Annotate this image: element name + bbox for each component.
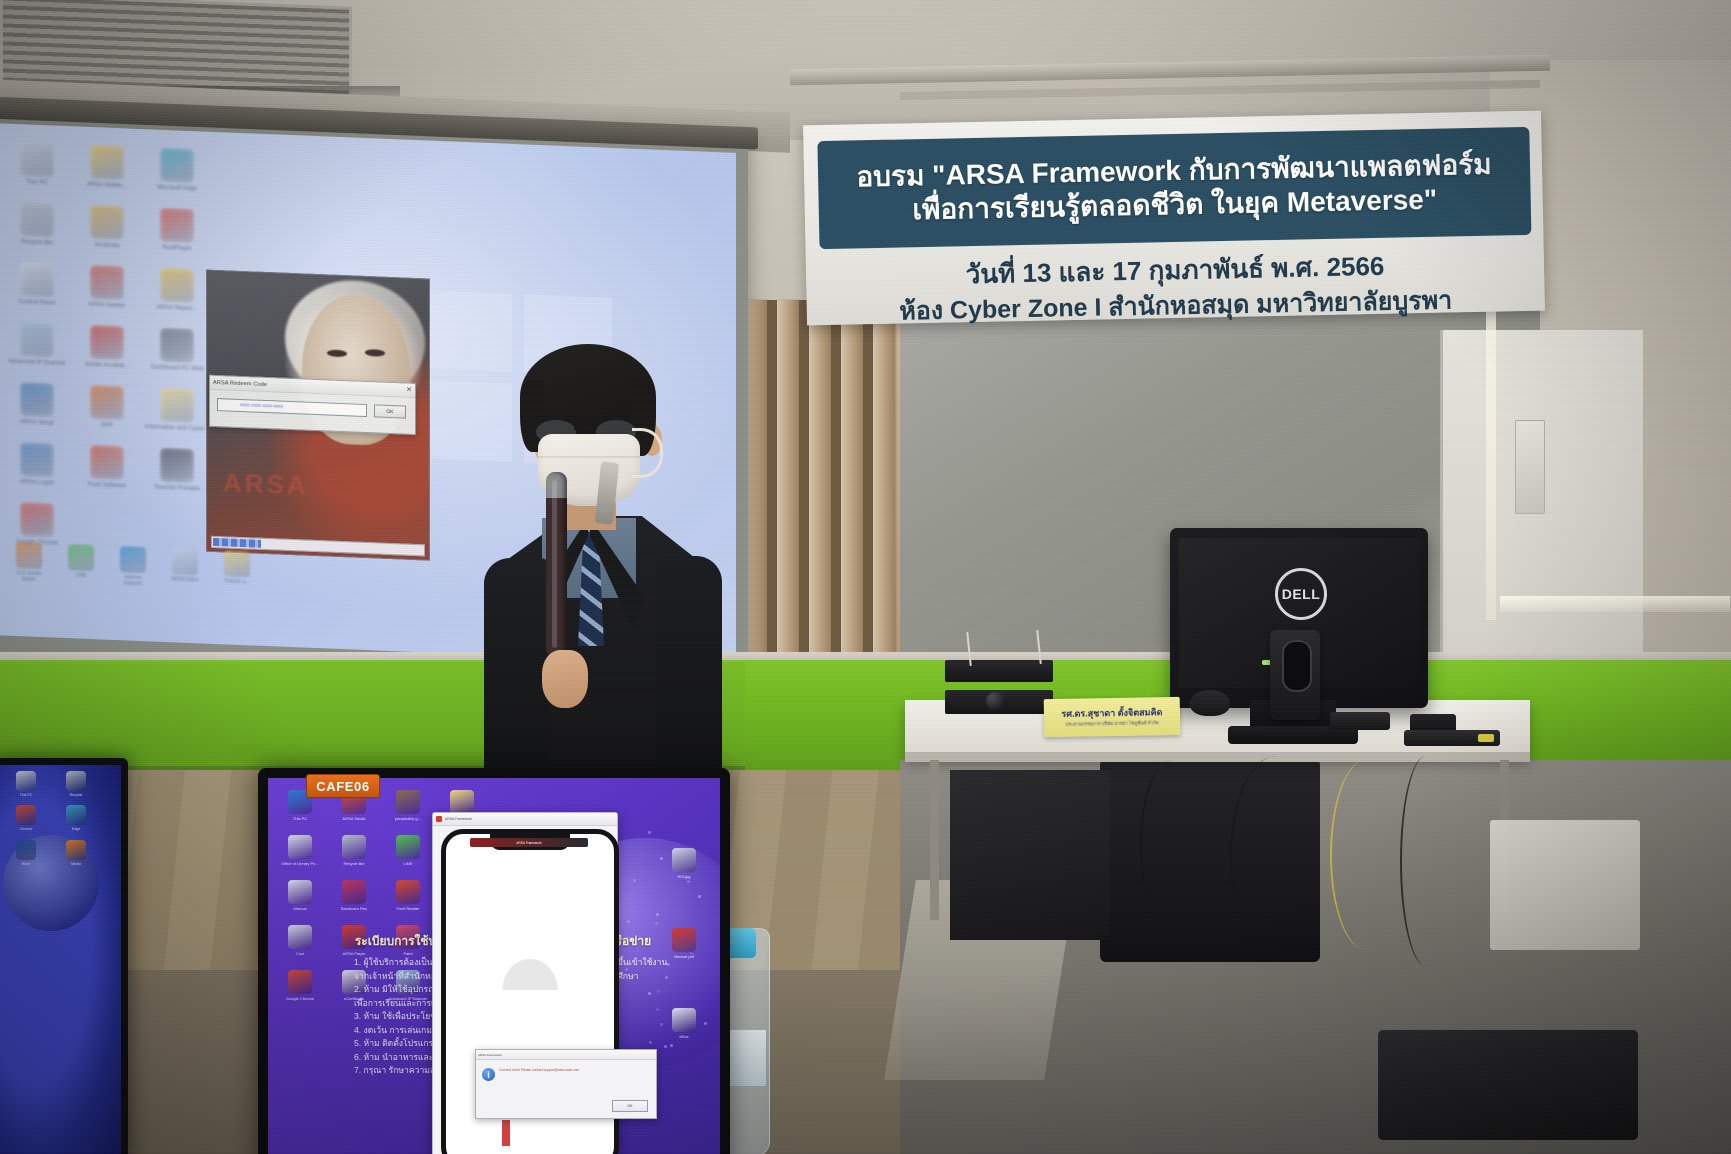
desktop-icon-label: Publish a... — [220, 578, 254, 585]
laptop-center-desktop-icon[interactable]: Cool — [274, 925, 326, 956]
error-dialog-ok-button[interactable]: OK — [612, 1100, 648, 1112]
desktop-icon-glyph — [20, 262, 54, 297]
desktop-icon-glyph — [20, 142, 54, 177]
desktop-icon-glyph — [160, 388, 194, 423]
projected-desktop-icon[interactable]: Foxit Software — [74, 444, 140, 491]
desktop-icon-label: WS.jpg — [656, 874, 712, 879]
info-icon: i — [482, 1068, 495, 1081]
desktop-icon-label: Media — [53, 862, 99, 866]
desktop-icon-label: Edge — [53, 827, 99, 831]
laptop-center-desktop-icon[interactable]: Foxit Reader — [382, 880, 434, 911]
wallpaper-dot — [687, 880, 690, 883]
laptop-center-desktop-icon[interactable]: Office of Library Po... — [274, 835, 326, 866]
cafe06-asset-tag: CAFE06 — [306, 774, 380, 798]
desktop-icon-label: Word — [3, 862, 49, 866]
laptop-left-desktop-icon[interactable]: Edge — [53, 805, 99, 831]
desktop-icon-glyph — [396, 835, 420, 859]
computer-mouse[interactable] — [1190, 690, 1230, 716]
arsa-redeem-code-dialog[interactable]: ARSA Redeem Code ✕ xxxx-xxxx-xxxx-xxxx O… — [209, 375, 416, 435]
nameplate-name: รศ.ดร.สุชาดา ตั้งจิตสมคิด — [1061, 705, 1162, 721]
projected-desktop-icons: This PCARSA Mobile...Microsoft EdgeRecyc… — [4, 142, 214, 554]
desktop-icon-label: Chrome — [3, 827, 49, 831]
desktop-icon-glyph — [672, 928, 696, 952]
emulator-error-dialog[interactable]: ARSA Framework i Connect error! Please c… — [475, 1049, 657, 1119]
phone-emulator-window[interactable]: ARSA Framework ARSA Framework ARSA Frame… — [432, 812, 618, 1154]
wallpaper-dot — [648, 831, 651, 834]
redeem-code-input[interactable]: xxxx-xxxx-xxxx-xxxx — [217, 398, 367, 417]
desktop-icon-glyph — [90, 145, 124, 180]
desktop-icon-label: ARSA Mobile... — [74, 181, 140, 191]
projected-taskbar-icon[interactable]: Publish a... — [220, 550, 254, 591]
wallpaper-dot — [655, 922, 658, 925]
desktop-icon-label: peopleality g... — [382, 816, 434, 821]
desktop-icon-glyph — [450, 790, 474, 814]
desktop-icon-glyph — [20, 442, 54, 477]
redeem-code-value: xxxx-xxxx-xxxx-xxxx — [218, 399, 366, 412]
projected-desktop-icon[interactable]: Control Panel — [4, 262, 70, 309]
desktop-icon-label: Foxit Reader — [382, 906, 434, 911]
projected-taskbar-icon[interactable]: ARSA Editor — [168, 548, 202, 589]
cable-3 — [1400, 756, 1452, 966]
desktop-icon-glyph — [672, 1008, 696, 1032]
desktop-icon-label: eDoc — [656, 1034, 712, 1039]
laptop-left-desktop-icon[interactable]: Media — [53, 840, 99, 866]
desk-nameplate: รศ.ดร.สุชาดา ตั้งจิตสมคิด ประธานกรรมการ … — [1044, 697, 1181, 737]
desktop-icon-glyph — [288, 925, 312, 949]
projected-desktop-icon[interactable]: Adobe Acrobat... — [74, 324, 140, 371]
desktop-icon-glyph — [160, 328, 194, 363]
desktop-icon-label: Adobe Acrobat... — [74, 361, 140, 371]
banner-header-block: อบรม "ARSA Framework กับการพัฒนาแพลตฟอร์… — [817, 127, 1531, 249]
desktop-icon-label: RealPlayer — [144, 244, 210, 254]
desktop-icon-glyph — [68, 544, 94, 571]
event-banner: อบรม "ARSA Framework กับการพัฒนาแพลตฟอร์… — [803, 111, 1545, 326]
desktop-icon-label: Internet Explorer — [116, 574, 150, 587]
laptop-center-right-icon[interactable]: Manual.pdf — [656, 928, 712, 959]
foreground-keyboard[interactable] — [1378, 1030, 1638, 1140]
cable-2 — [1230, 756, 1322, 956]
cable-management-box — [1490, 820, 1640, 950]
projected-desktop-icon[interactable]: Dashboard PC Web — [144, 327, 210, 374]
desktop-icon-glyph — [16, 840, 36, 860]
desktop-icon-label: Bandicam Rec — [328, 906, 380, 911]
desktop-icon-glyph — [342, 835, 366, 859]
presenter — [480, 350, 730, 790]
desktop-icon-label: ARSA Setup — [4, 419, 70, 429]
laptop-left-desktop-icon[interactable]: This PC — [3, 771, 49, 797]
game-progress-fill — [213, 538, 261, 548]
small-keypad[interactable] — [1330, 712, 1390, 730]
desktop-icon-glyph — [342, 880, 366, 904]
wall-control-panel[interactable] — [1515, 420, 1545, 514]
desktop-icon-glyph — [172, 548, 198, 575]
desktop-icon-label: Information and Cyber... — [144, 424, 210, 434]
arm-left — [484, 558, 550, 794]
projected-desktop-icon[interactable]: Recycle Bin — [4, 202, 70, 249]
desktop-icon-glyph — [16, 771, 36, 791]
projected-desktop-icon[interactable]: ARSA Setup — [4, 382, 70, 429]
desktop-icon-glyph — [90, 205, 124, 240]
desktop-icon-glyph — [16, 542, 42, 569]
glasses-bridge — [574, 428, 596, 430]
game-logo-text: ARSA — [223, 467, 309, 501]
desktop-icon-glyph — [288, 880, 312, 904]
desktop-icon-glyph — [396, 790, 420, 814]
laptop-center-desktop-icon[interactable]: Recycle Bin — [328, 835, 380, 866]
laptop-left-desktop-icon[interactable]: Word — [3, 840, 49, 866]
projected-desktop-icon[interactable]: ARSA Logon — [4, 442, 70, 489]
wallpaper-dot — [698, 895, 701, 898]
laptop-center-desktop-icon[interactable]: LINE — [382, 835, 434, 866]
laptop-center-right-icon[interactable]: eDoc — [656, 1008, 712, 1039]
emulator-titlebar: ARSA Framework — [433, 813, 617, 826]
desktop-icon-label: This PC — [274, 816, 326, 821]
error-dialog-titlebar: ARSA Framework — [476, 1050, 656, 1060]
desktop-icon-label: Office of Library Po... — [274, 861, 326, 866]
laptop-left-desktop-icon[interactable]: Chrome — [3, 805, 49, 831]
desktop-icon-label: Google Chrome — [274, 996, 326, 1001]
desktop-icon-label: ARSA Report... — [144, 304, 210, 314]
wallpaper-dot — [656, 913, 659, 916]
projected-desktop-icon[interactable]: ARSA Mobile... — [74, 144, 140, 191]
projected-desktop-icon[interactable]: RealPlayer — [144, 207, 210, 254]
desktop-icon-glyph — [120, 546, 146, 573]
desktop-icon-label: This PC — [4, 179, 70, 189]
adapter-strip — [1404, 730, 1500, 746]
desktop-icon-label: Manual.pdf — [656, 954, 712, 959]
desktop-icon-glyph — [160, 448, 194, 483]
desktop-icon-glyph — [90, 265, 124, 300]
desktop-icon-glyph — [20, 202, 54, 237]
desktop-icon-glyph — [160, 268, 194, 303]
wallpaper-dot — [627, 920, 630, 923]
nameplate-subtitle: ประธานกรรมการ บริษัท อารสา โซลูชั่นส์ จำ… — [1065, 720, 1158, 729]
app-header-bar: ARSA Framework — [470, 838, 588, 847]
laptop-center-right-icon[interactable]: WS.jpg — [656, 848, 712, 879]
error-message: Connect error! Please contact support@ar… — [499, 1068, 579, 1073]
projected-taskbar-icon[interactable]: VLC media player — [12, 542, 46, 583]
projected-desktop-icon[interactable]: This PC — [4, 142, 70, 189]
desktop-icon-label: Recycle Bin — [328, 861, 380, 866]
record-icon — [436, 816, 442, 822]
projected-taskbar-icon[interactable]: Internet Explorer — [116, 546, 150, 587]
dialog-title: ARSA Redeem Code — [213, 379, 267, 387]
desktop-icon-label: Manual — [274, 906, 326, 911]
dialog-ok-button[interactable]: OK — [374, 404, 406, 418]
desktop-icon-label: Microsoft Edge — [144, 184, 210, 194]
desktop-icon-label: Advanced IP Scanner — [4, 359, 70, 369]
mask-ear-strap — [632, 428, 663, 478]
projected-desktop-icon[interactable]: ArsaData — [74, 204, 140, 251]
pc-tower — [950, 770, 1110, 940]
desktop-icon-glyph — [160, 148, 194, 183]
desktop-icon-label: ARSA Studio — [328, 816, 380, 821]
wallpaper-dot — [633, 879, 636, 882]
desktop-icon-label: Dashboard PC Web — [144, 364, 210, 374]
projected-desktop-icon[interactable]: Information and Cyber... — [144, 387, 210, 434]
desktop-icon-label: ARSA Editor — [168, 576, 202, 583]
arm-right — [656, 556, 722, 794]
desktop-icon-glyph — [20, 502, 54, 537]
hand-holding-microphone — [542, 650, 588, 708]
desktop-icon-label: VLC media player — [12, 570, 46, 583]
emulator-title: ARSA Framework — [445, 817, 472, 821]
desktop-icon-glyph — [90, 385, 124, 420]
microphone-highlight — [552, 480, 557, 648]
receiver-knob[interactable] — [986, 692, 1004, 710]
desktop-icon-label: Cool — [274, 951, 326, 956]
laptop-center-desktop-icon[interactable]: Google Chrome — [274, 970, 326, 1001]
desktop-icon-glyph — [66, 771, 86, 791]
fluorescent-light-strip-lower — [1500, 596, 1730, 612]
dell-logo: DELL — [1275, 568, 1327, 620]
projected-desktop-icon[interactable]: ARSA Report... — [144, 267, 210, 314]
cable-1 — [1140, 760, 1202, 930]
laptop-center-desktop-icon[interactable]: Manual — [274, 880, 326, 911]
app-logo — [498, 954, 562, 990]
dock-slot — [1282, 640, 1312, 692]
projected-desktop-icon[interactable]: ARSA Sender — [74, 264, 140, 311]
error-dialog-content: i Connect error! Please contact support@… — [476, 1060, 656, 1081]
laptop-left-desktop-icons: This PCRecycleChromeEdgeWordMedia — [3, 771, 101, 866]
desktop-icon-glyph — [20, 382, 54, 417]
desktop-icon-label: Control Panel — [4, 299, 70, 309]
desktop-icon-label: LINE — [382, 861, 434, 866]
desktop-icon-glyph — [66, 805, 86, 825]
error-dialog-title: ARSA Framework — [478, 1053, 502, 1057]
desktop-icon-glyph — [288, 970, 312, 994]
projected-desktop-icon[interactable]: EKP — [74, 384, 140, 431]
desktop-icon-label: Foxit Software — [74, 481, 140, 491]
desktop-icon-glyph — [16, 805, 36, 825]
desktop-icon-glyph — [90, 445, 124, 480]
desktop-icon-glyph — [160, 208, 194, 243]
desktop-icon-label: This PC — [3, 793, 49, 797]
projected-desktop-icon[interactable]: Advanced IP Scanner — [4, 322, 70, 369]
wireless-receiver-1 — [945, 660, 1053, 682]
desktop-icon-label: Teachild Portable — [144, 484, 210, 494]
desktop-icon-label: EKP — [74, 421, 140, 431]
desktop-icon-glyph — [66, 840, 86, 860]
desktop-icon-label: LINE — [64, 572, 98, 579]
close-icon[interactable]: ✕ — [406, 387, 412, 394]
laptop-center-desktop-icon[interactable]: Bandicam Rec — [328, 880, 380, 911]
desktop-icon-glyph — [224, 550, 250, 577]
projected-desktop-icon[interactable]: Teachild Portable — [144, 447, 210, 494]
desktop-icon-label: Recycle — [53, 793, 99, 797]
desktop-icon-glyph — [288, 835, 312, 859]
desktop-icon-glyph — [90, 325, 124, 360]
desktop-icon-label: ARSA Logon — [4, 479, 70, 489]
table-edge — [905, 752, 1530, 762]
foreground-laptop-center[interactable]: CAFE06 This PCARSA Studiopeopleality g..… — [258, 768, 730, 1154]
laptop-left-desktop-icon[interactable]: Recycle — [53, 771, 99, 797]
desktop-icon-glyph — [672, 848, 696, 872]
laptop-center-desktop-icon[interactable]: peopleality g... — [382, 790, 434, 821]
desktop-icon-glyph — [396, 880, 420, 904]
desktop-icon-label: ArsaData — [74, 241, 140, 251]
desktop-icon-label: Recycle Bin — [4, 239, 70, 249]
projected-desktop-icon[interactable]: Microsoft Edge — [144, 147, 210, 194]
foreground-laptop-left[interactable]: This PCRecycleChromeEdgeWordMedia — [0, 758, 128, 1154]
table-leg-left — [930, 760, 939, 920]
desktop-icon-label: ARSA Sender — [74, 301, 140, 311]
desktop-icon-glyph — [20, 322, 54, 357]
laptop-center-screen: This PCARSA Studiopeopleality g...Inform… — [268, 778, 720, 1154]
projected-taskbar-icon[interactable]: LINE — [64, 544, 98, 585]
wood-slat-partition — [745, 300, 910, 680]
laptop-left-screen: This PCRecycleChromeEdgeWordMedia — [0, 765, 121, 1154]
photo-scene: This PCARSA Mobile...Microsoft EdgeRecyc… — [0, 0, 1731, 1154]
app-bottom-indicator — [502, 1120, 510, 1146]
cable-yellow — [1330, 760, 1402, 950]
